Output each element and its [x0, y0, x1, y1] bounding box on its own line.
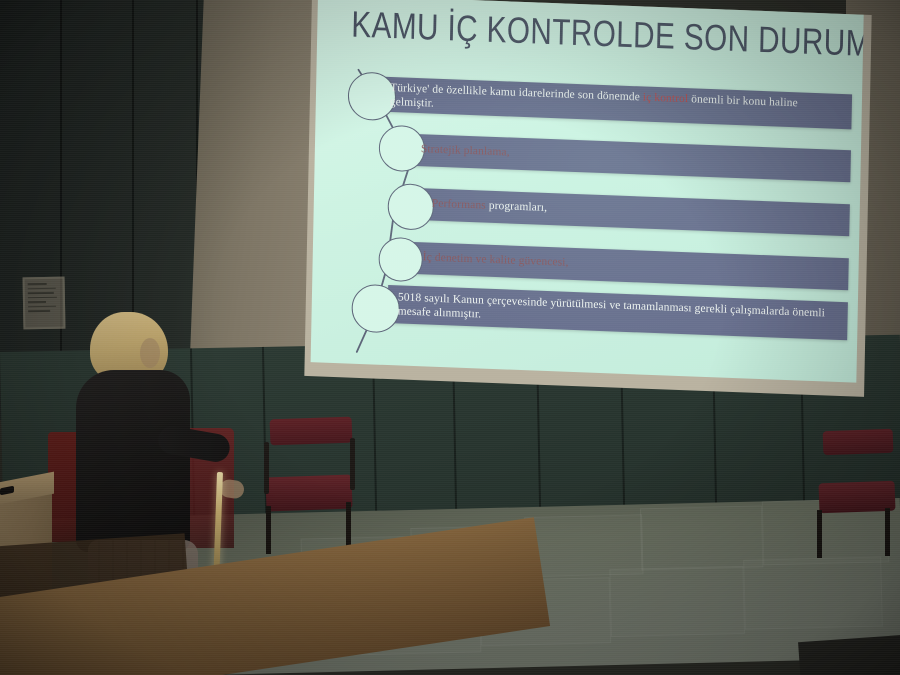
bullet-3-post: programları,	[486, 200, 548, 214]
wall-notice	[23, 277, 66, 330]
audience-chair-center	[262, 418, 367, 548]
presenter-jacket	[76, 370, 190, 552]
bullet-3-highlight: Performans	[432, 198, 486, 212]
audience-chair-right	[815, 430, 900, 550]
slide-title: KAMU İÇ KONTROLDE SON DURUM	[351, 3, 832, 63]
projection-screen: KAMU İÇ KONTROLDE SON DURUM Türkiye' de …	[304, 0, 871, 397]
slide: KAMU İÇ KONTROLDE SON DURUM Türkiye' de …	[311, 0, 864, 383]
bullet-2-highlight: Stratejik planlama,	[421, 143, 510, 158]
presentation-photo: KAMU İÇ KONTROLDE SON DURUM Türkiye' de …	[0, 0, 900, 675]
presenter-head	[140, 338, 160, 368]
presenter-hand	[219, 478, 245, 499]
bullet-1-highlight: iç kontrol	[643, 91, 689, 105]
